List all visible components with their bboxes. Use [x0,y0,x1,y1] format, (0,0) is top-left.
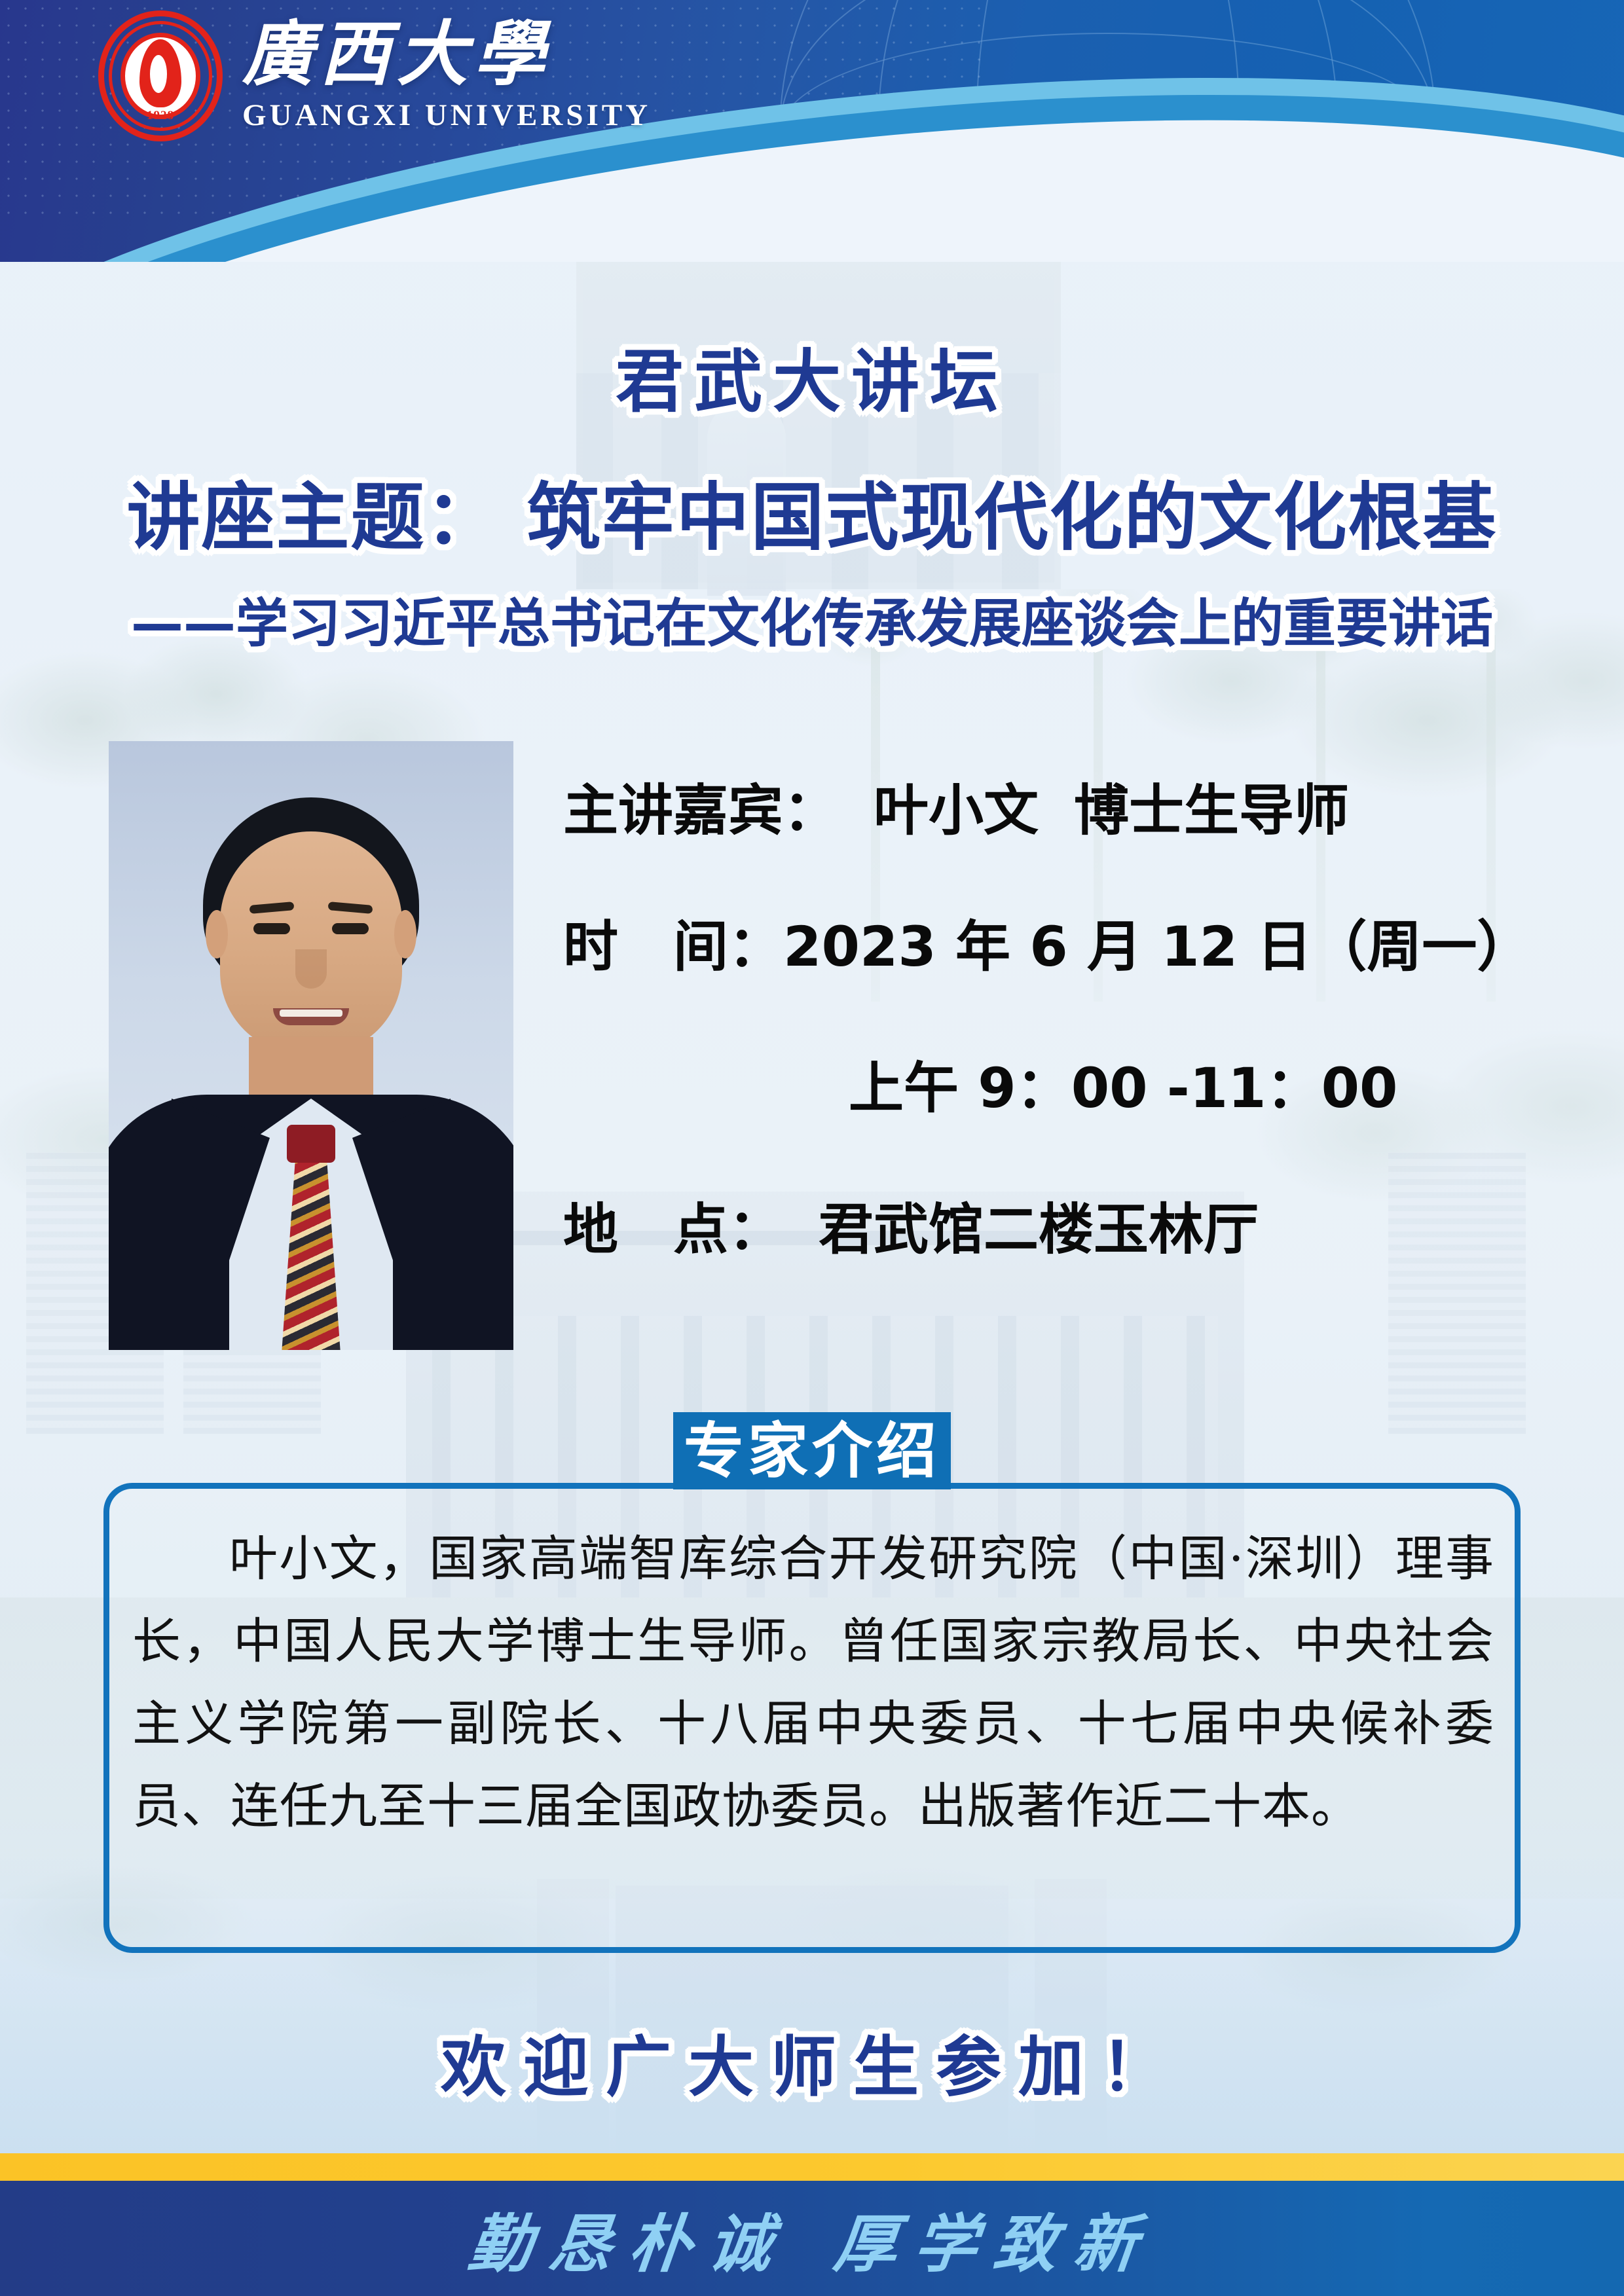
lecture-topic: 讲座主题： 筑牢中国式现代化的文化根基 [0,458,1624,564]
expert-bio-text: 叶小文，国家高端智库综合开发研究院（中国·深圳）理事长，中国人民大学博士生导师。… [132,1518,1494,1848]
speaker-portrait-icon [109,741,513,1350]
lecture-venue: 君武馆二楼玉林厅 [819,1197,1259,1262]
lecture-poster: 1928 廣西大學 GUANGXI UNIVERSITY 君武大讲坛 讲座主题：… [0,0,1624,2296]
place-label: 地 点： [563,1197,783,1262]
lecture-hours: 上午 9：00 -11：00 [849,1061,1397,1116]
lecture-subtitle: ——学习习近平总书记在文化传承发展座谈会上的重要讲话 [0,581,1624,657]
poster-content: 君武大讲坛 讲座主题： 筑牢中国式现代化的文化根基 ——学习习近平总书记在文化传… [0,0,1624,2296]
place-line: 地 点：君武馆二楼玉林厅 [563,1202,1259,1257]
time-line: 时 间：2023 年 6 月 12 日（周一） [563,919,1532,974]
speaker-name: 叶小文 [874,778,1039,843]
speaker-title: 博士生导师 [1074,778,1349,843]
university-logo: 1928 廣西大學 GUANGXI UNIVERSITY [98,10,651,141]
speaker-label: 主讲嘉宾： [563,778,838,843]
speaker-line: 主讲嘉宾：叶小文博士生导师 [563,783,1349,838]
expert-intro-badge: 专家介绍 [673,1412,951,1489]
seal-year: 1928 [147,109,174,123]
guangxi-university-seal-icon: 1928 [98,10,223,141]
lecture-date: 2023 年 6 月 12 日（周一） [783,915,1532,979]
time-label: 时 间： [563,915,783,979]
university-name-en: GUANGXI UNIVERSITY [242,98,651,133]
forum-title: 君武大讲坛 [0,326,1624,425]
welcome-message: 欢迎广大师生参加！ [0,2014,1624,2109]
university-name-cn: 廣西大學 [242,19,651,90]
